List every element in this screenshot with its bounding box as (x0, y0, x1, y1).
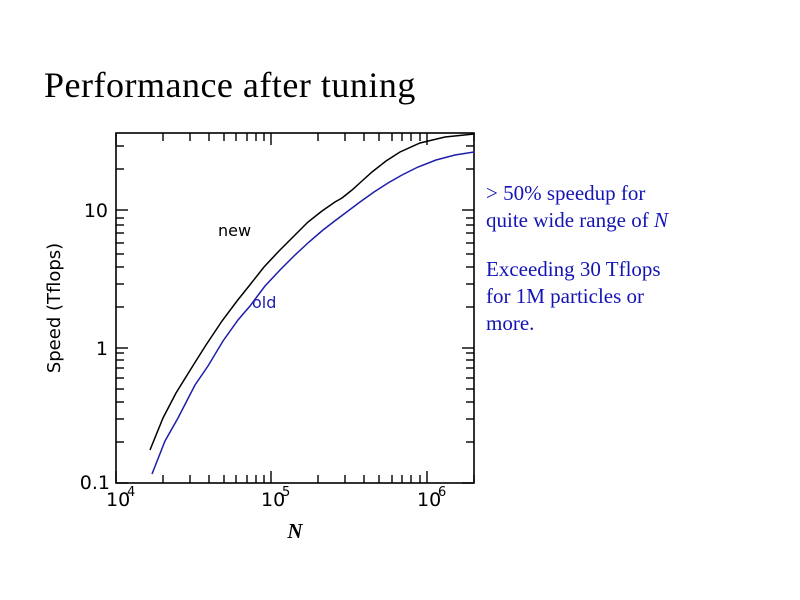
annotation-p2-line1: Exceeding 30 Tflops (486, 257, 661, 281)
x-tick-label-1e6: 10 6 (417, 485, 446, 511)
annotation-p1-line1: > 50% speedup for (486, 181, 645, 205)
y-axis-title: Speed (Tflops) (44, 243, 65, 373)
series-line-new (150, 134, 474, 450)
series-line-old (152, 152, 474, 474)
annotation-paragraph-2: Exceeding 30 Tflops for 1M particles or … (486, 256, 786, 337)
x-tick-1e4-exp: 4 (127, 485, 135, 500)
annotation-p2-line2: for 1M particles or (486, 284, 644, 308)
chart-svg: 10 1 0.1 10 4 10 5 10 6 Speed (Tflops) N (0, 110, 500, 550)
plot-frame (116, 133, 474, 483)
annotation-p2-line3: more. (486, 311, 534, 335)
x-axis-ticks (116, 471, 474, 483)
y-axis-ticks (116, 146, 128, 483)
y-tick-label-10: 10 (84, 200, 108, 222)
series-label-new: new (218, 221, 251, 240)
x-axis-title: N (286, 519, 303, 543)
annotation-p1-line2-text: quite wide range of (486, 208, 654, 232)
x-tick-label-1e4: 10 4 (106, 485, 135, 511)
page-title: Performance after tuning (44, 64, 416, 106)
x-tick-label-1e5: 10 5 (261, 485, 290, 511)
annotation-p1-variable-n: N (654, 208, 668, 232)
y-tick-label-1: 1 (96, 338, 108, 360)
x-tick-1e6-exp: 6 (438, 485, 446, 500)
performance-chart: 10 1 0.1 10 4 10 5 10 6 Speed (Tflops) N (0, 110, 500, 550)
slide-canvas: Performance after tuning (0, 0, 800, 600)
x-tick-1e5-exp: 5 (282, 485, 290, 500)
series-label-old: old (252, 293, 276, 312)
y-axis-ticks-right (462, 146, 474, 483)
annotation-paragraph-1: > 50% speedup for quite wide range of N (486, 180, 786, 234)
annotation-block: > 50% speedup for quite wide range of N … (486, 180, 786, 336)
